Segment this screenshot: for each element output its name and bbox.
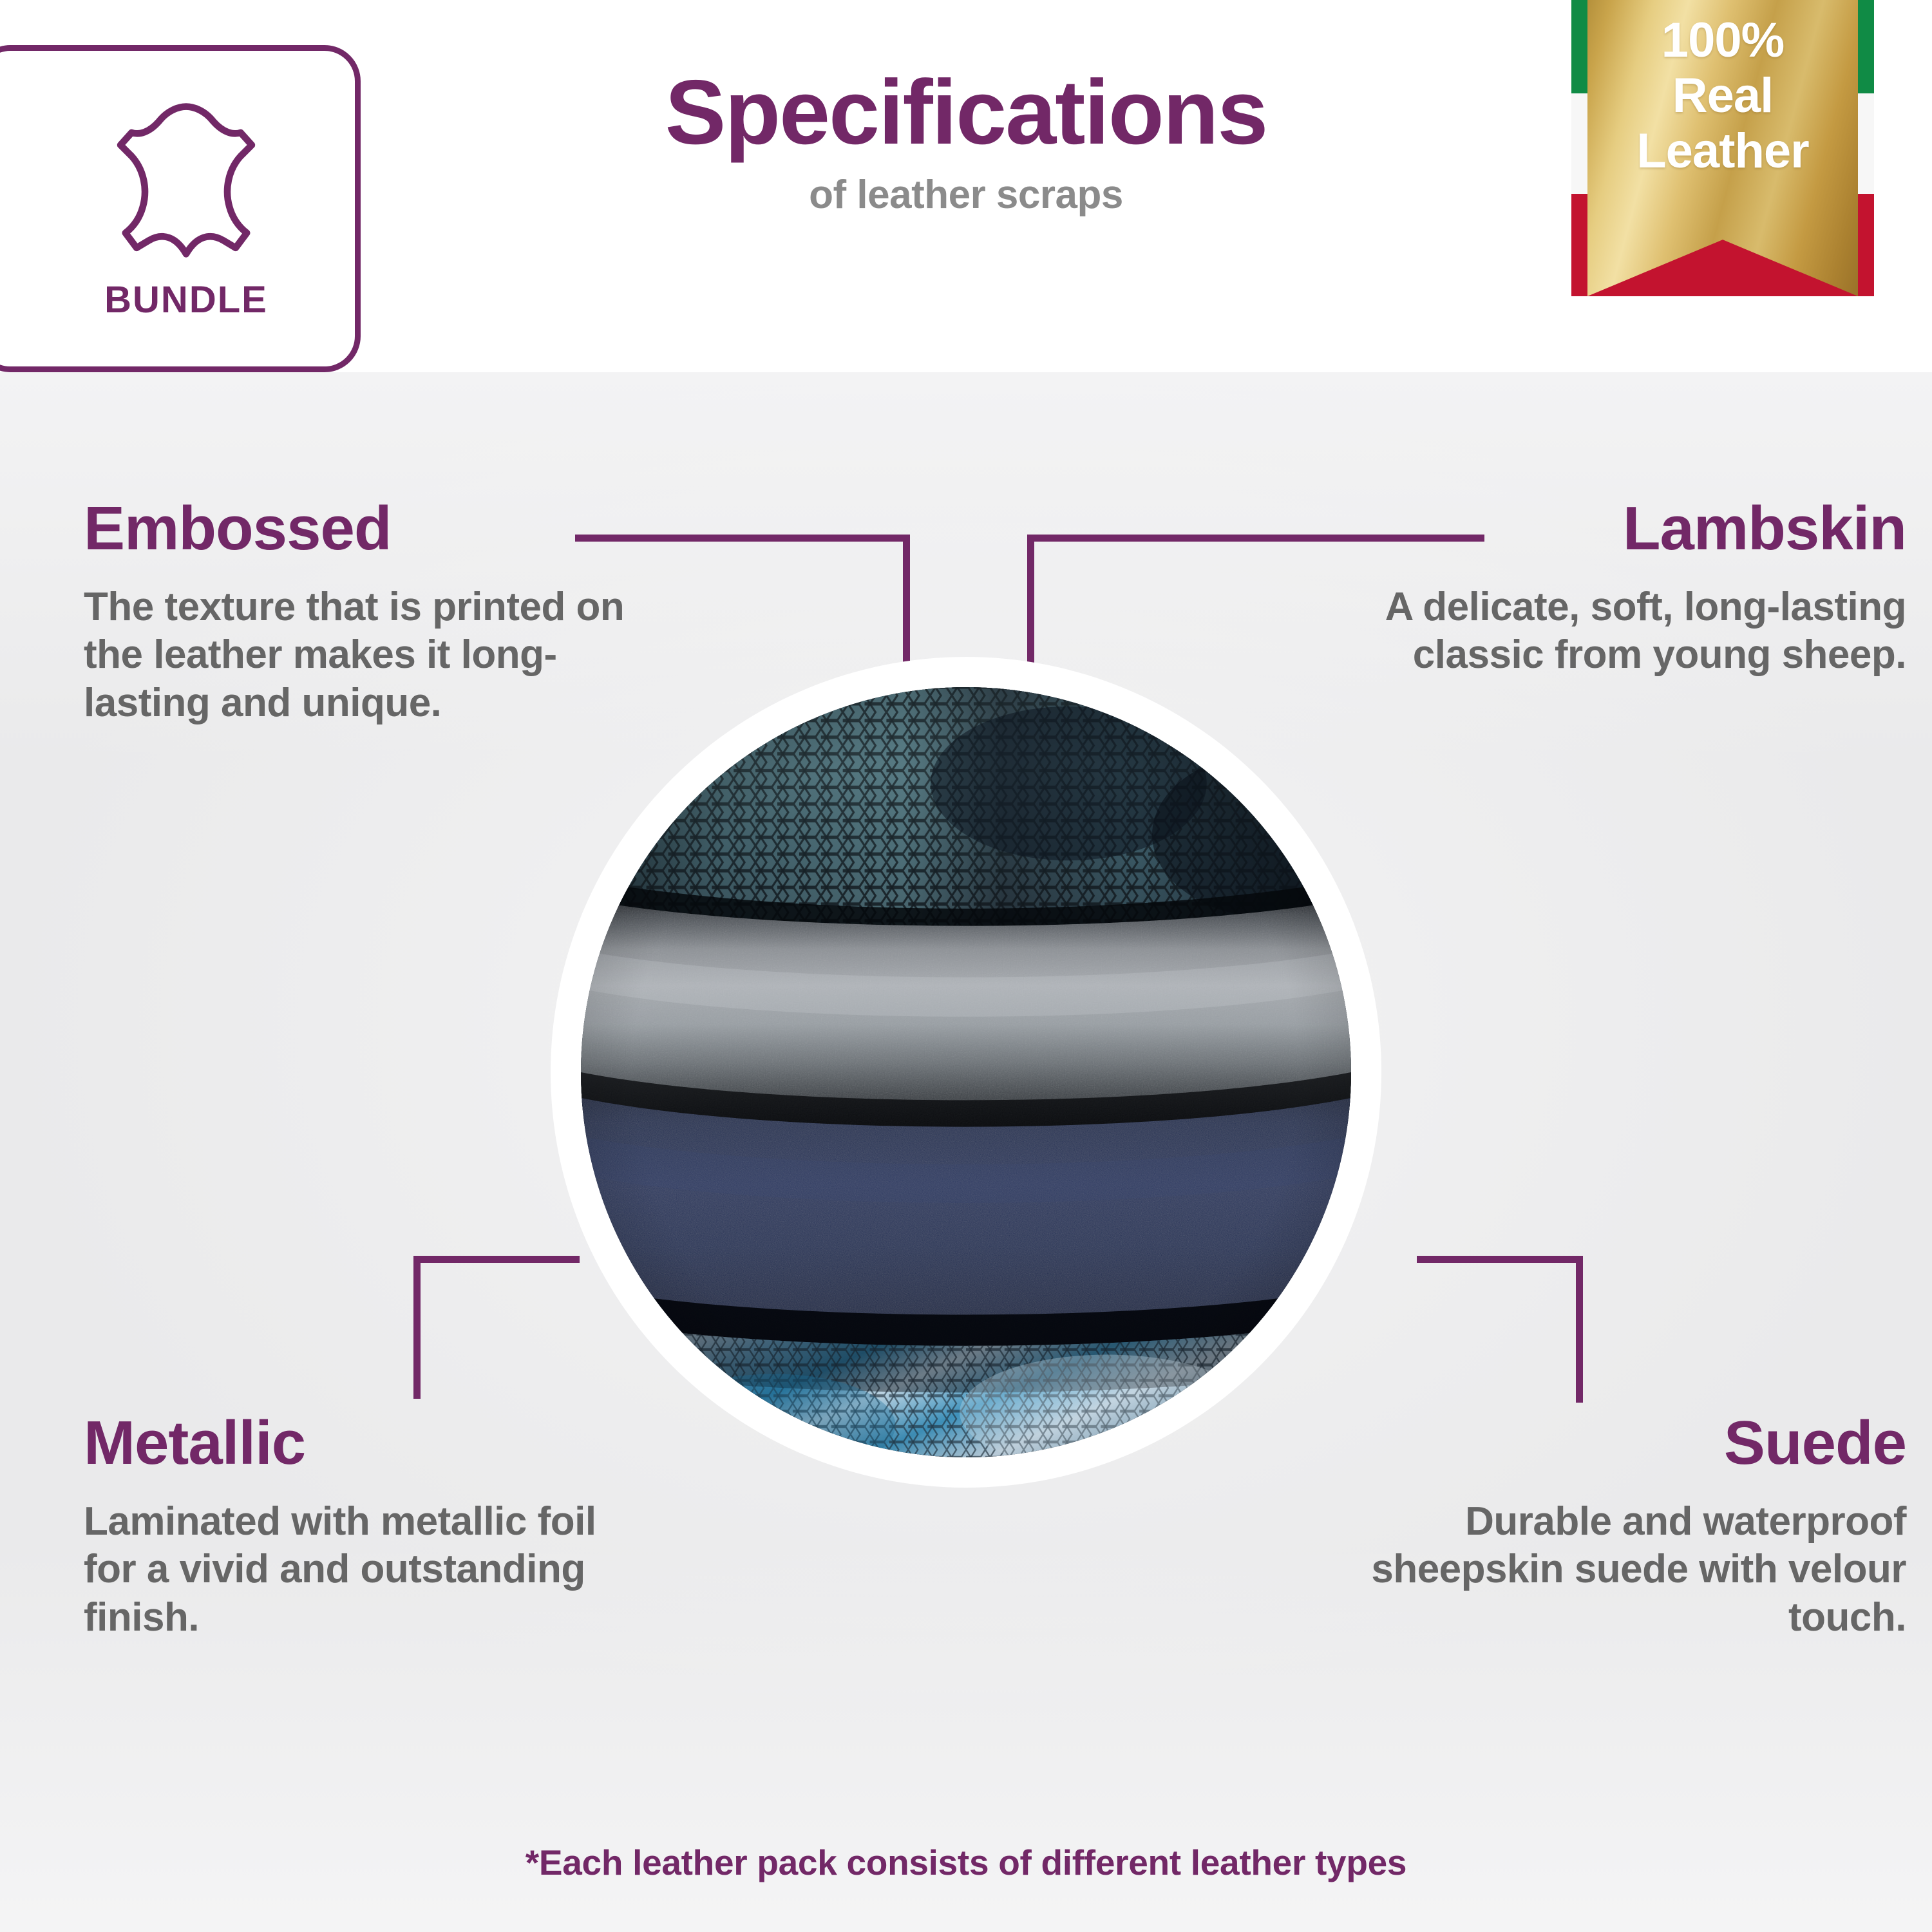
page-title: Specifications <box>451 64 1481 160</box>
badge-line-3: Leather <box>1636 124 1809 179</box>
bundle-badge: BUNDLE <box>0 45 361 372</box>
callout-suede: Suede Durable and waterproof sheepskin s… <box>1282 1410 1932 1642</box>
leather-hide-icon <box>106 97 267 264</box>
callout-embossed: Embossed The texture that is printed on … <box>84 496 650 727</box>
callout-suede-body: Durable and waterproof sheepskin suede w… <box>1282 1498 1906 1642</box>
leather-swatches-photo <box>581 687 1351 1457</box>
footnote: *Each leather pack consists of different… <box>0 1842 1932 1883</box>
infographic-canvas: BUNDLE Specifications of leather scraps … <box>0 0 1932 1932</box>
connector-suede-horizontal <box>1417 1256 1583 1263</box>
callout-suede-title: Suede <box>1282 1410 1906 1476</box>
photo-ring <box>551 657 1381 1488</box>
badge-line-1: 100% <box>1662 13 1784 68</box>
callout-metallic: Metallic Laminated with metallic foil fo… <box>84 1410 650 1642</box>
callout-metallic-title: Metallic <box>84 1410 650 1476</box>
header-bar: BUNDLE Specifications of leather scraps … <box>0 0 1932 372</box>
badge-line-2: Real <box>1672 68 1774 124</box>
callout-lambskin-title: Lambskin <box>1282 496 1906 562</box>
page-subtitle: of leather scraps <box>451 172 1481 218</box>
callout-lambskin: Lambskin A delicate, soft, long-lasting … <box>1282 496 1932 679</box>
callout-embossed-body: The texture that is printed on the leath… <box>84 583 650 727</box>
real-leather-badge: 100% Real Leather <box>1571 0 1874 313</box>
callout-lambskin-body: A delicate, soft, long-lasting classic f… <box>1282 583 1906 679</box>
connector-metallic-horizontal <box>413 1256 580 1263</box>
connector-metallic-vertical <box>413 1256 421 1399</box>
connector-suede-vertical <box>1576 1256 1583 1403</box>
page-title-block: Specifications of leather scraps <box>451 64 1481 218</box>
bundle-label: BUNDLE <box>104 278 268 321</box>
callout-embossed-title: Embossed <box>84 496 650 562</box>
callout-metallic-body: Laminated with metallic foil for a vivid… <box>84 1498 650 1642</box>
